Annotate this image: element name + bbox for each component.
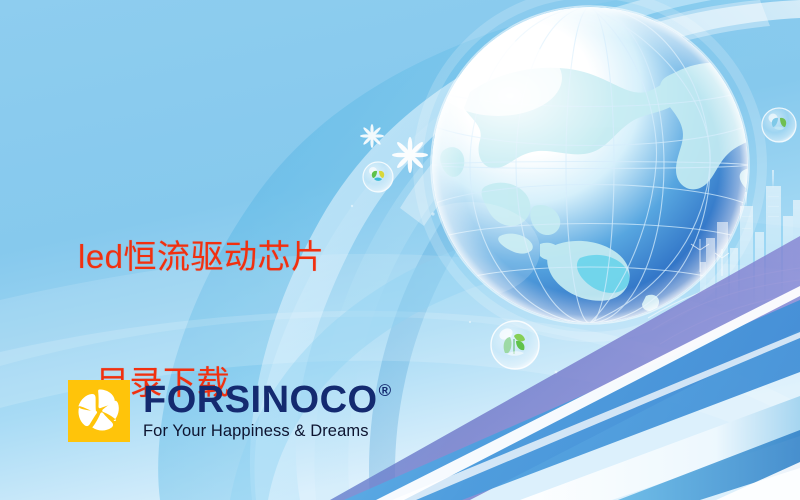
headline-line-1: led恒流驱动芯片 xyxy=(78,238,325,277)
brand-tagline: For Your Happiness & Dreams xyxy=(143,422,392,440)
latitude-lines xyxy=(432,90,748,282)
flower-decoration-large xyxy=(392,137,428,173)
bubble-large-center xyxy=(491,321,539,369)
cover-banner: led恒流驱动芯片 目录下载 xyxy=(0,0,800,500)
registered-trademark-icon: ® xyxy=(379,382,392,399)
bubble-right-edge xyxy=(762,108,796,142)
turbine-icons xyxy=(691,239,729,276)
earth-globe xyxy=(400,7,800,323)
longitude-lines xyxy=(432,7,748,323)
city-skyline xyxy=(700,170,800,304)
light-streaks xyxy=(648,268,800,344)
leaf-icon xyxy=(504,334,525,356)
logo-mark xyxy=(68,380,130,442)
wordmark-text: FORSINOCO xyxy=(143,381,378,419)
globe-rim xyxy=(432,7,748,323)
flower-decoration-small xyxy=(360,124,384,148)
diagonal-bands xyxy=(330,236,800,500)
bubble-small-left xyxy=(363,162,393,192)
four-petal-pinwheel-icon xyxy=(68,380,130,442)
leaf-icon xyxy=(372,171,384,181)
globe-highlight xyxy=(402,16,618,176)
continents xyxy=(440,42,800,311)
logo-text-block: FORSINOCO® For Your Happiness & Dreams xyxy=(143,381,392,440)
leaf-icon xyxy=(772,118,786,130)
brand-logo[interactable]: FORSINOCO® For Your Happiness & Dreams xyxy=(68,380,392,442)
sparkles xyxy=(351,205,558,374)
brand-wordmark: FORSINOCO® xyxy=(143,381,392,419)
